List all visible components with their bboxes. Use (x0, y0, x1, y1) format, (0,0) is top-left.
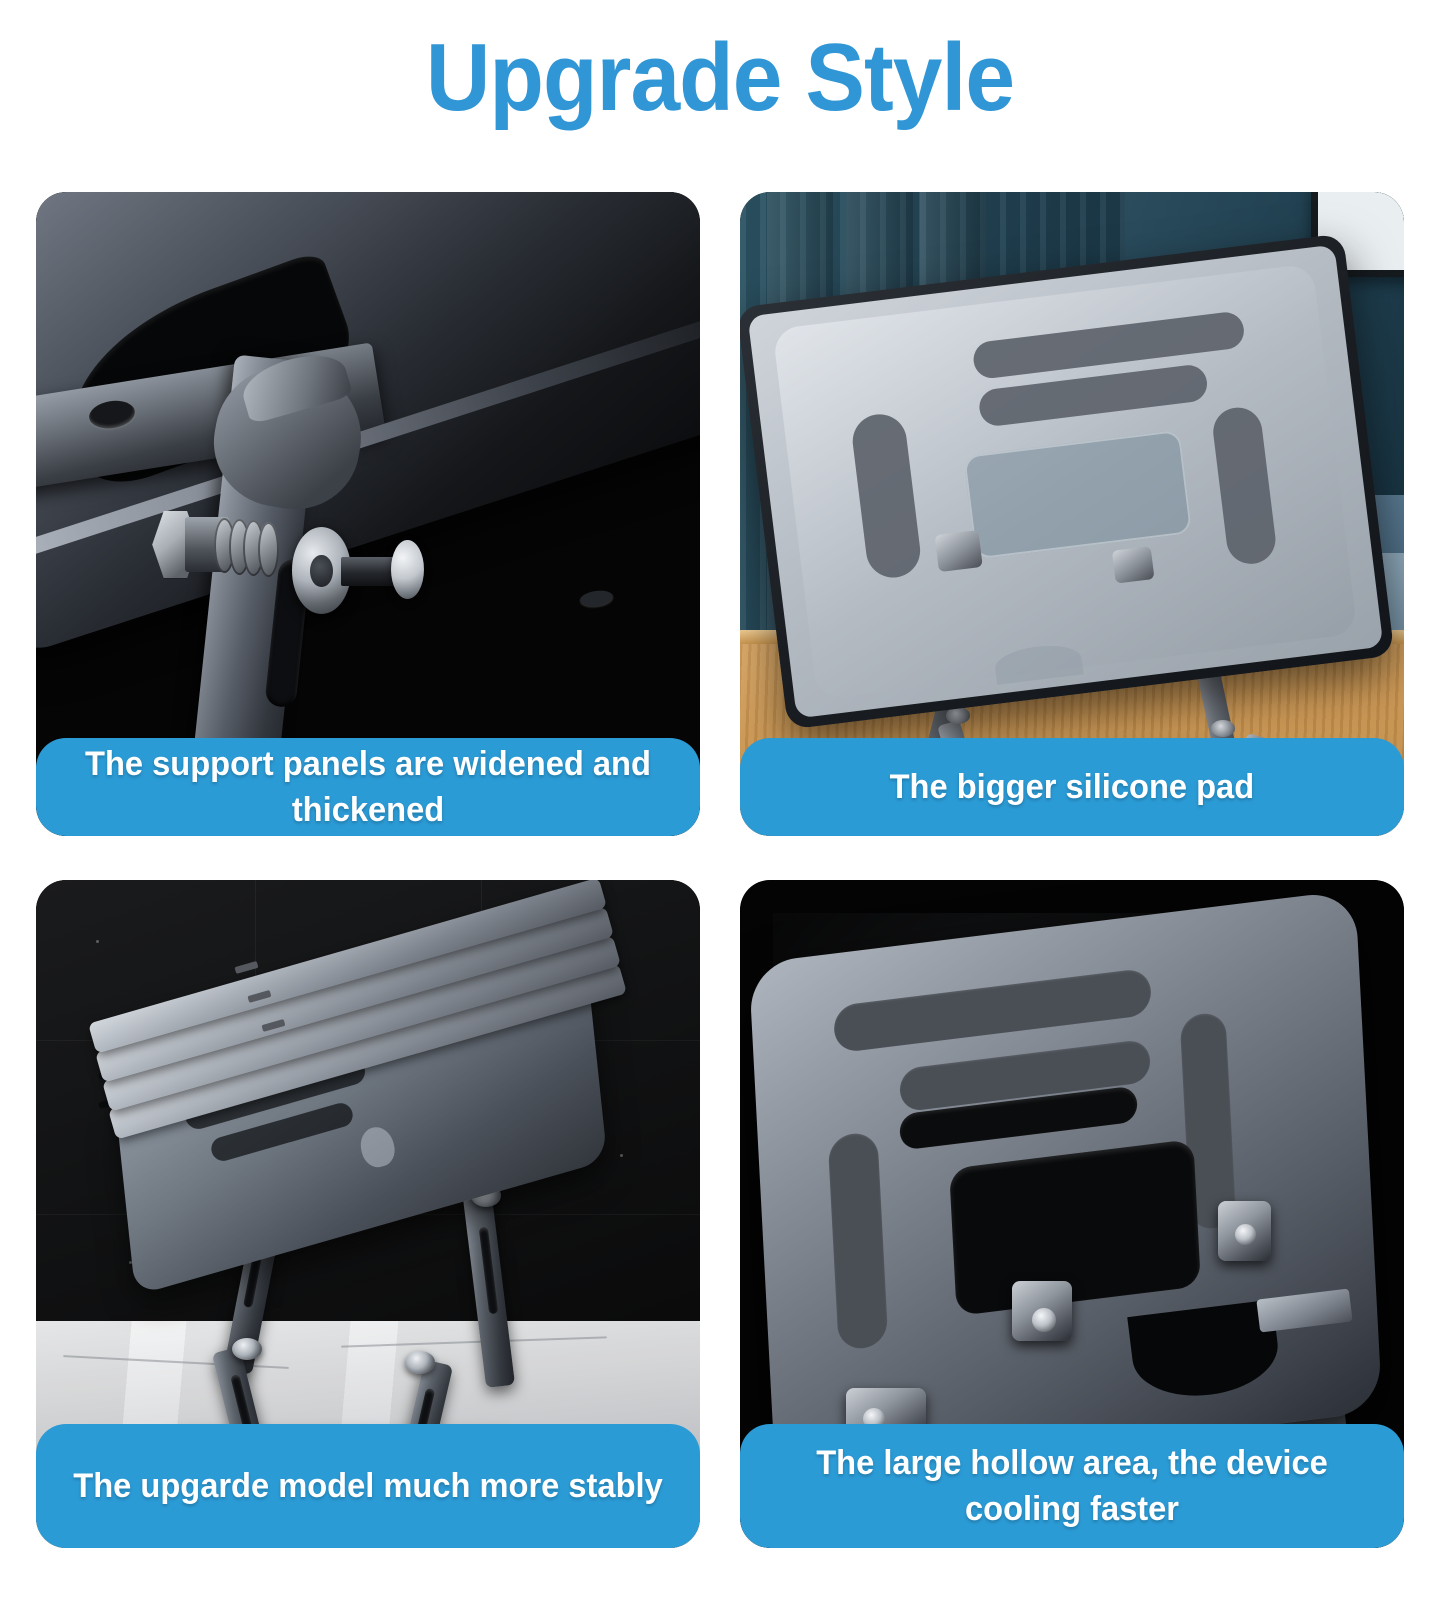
pivot-axle-cap (391, 540, 424, 599)
stand-joint-5 (405, 1351, 436, 1374)
stand-leg-joint-right (1211, 720, 1235, 737)
caption-text: The upgarde model much more stably (73, 1463, 662, 1509)
plate-notch (580, 589, 615, 609)
hinge-pin-1 (1032, 1308, 1056, 1332)
stand-clip-left (935, 530, 983, 572)
feature-caption-support-panels: The support panels are widened and thick… (36, 738, 700, 836)
feature-caption-stability: The upgarde model much more stably (36, 1424, 700, 1548)
wall-speck (96, 940, 99, 943)
stand-top-plate (773, 264, 1358, 700)
pivot-core (310, 555, 333, 587)
feature-card-silicone-pad[interactable]: The bigger silicone pad (740, 192, 1404, 836)
tablet-screen (747, 245, 1383, 719)
hollow-cooling-area (964, 430, 1193, 560)
feature-card-stability[interactable]: choetech (36, 880, 700, 1548)
feature-caption-silicone-pad: The bigger silicone pad (740, 738, 1404, 836)
plate-bottom-notch (993, 641, 1083, 685)
caption-text: The bigger silicone pad (890, 764, 1255, 810)
feature-card-support-panels[interactable]: The support panels are widened and thick… (36, 192, 700, 836)
silicone-pad-right (1210, 405, 1278, 566)
silicone-pad-top-1 (972, 310, 1247, 380)
hollow-cooling-area (950, 1139, 1202, 1316)
caption-text: The support panels are widened and thick… (72, 741, 663, 833)
silicone-pad-left (849, 412, 923, 581)
stand-clip-right (1112, 546, 1154, 584)
page-title: Upgrade Style (50, 18, 1389, 138)
washer-4 (258, 522, 279, 577)
infographic-page: Upgrade Style (0, 0, 1440, 1600)
caption-text: The large hollow area, the device coolin… (776, 1440, 1367, 1532)
feature-grid: The support panels are widened and thick… (36, 192, 1404, 1548)
tablet-device (740, 234, 1394, 730)
feature-caption-cooling: The large hollow area, the device coolin… (740, 1424, 1404, 1548)
feature-card-cooling[interactable]: choetech The large hollow area, the devi… (740, 880, 1404, 1548)
